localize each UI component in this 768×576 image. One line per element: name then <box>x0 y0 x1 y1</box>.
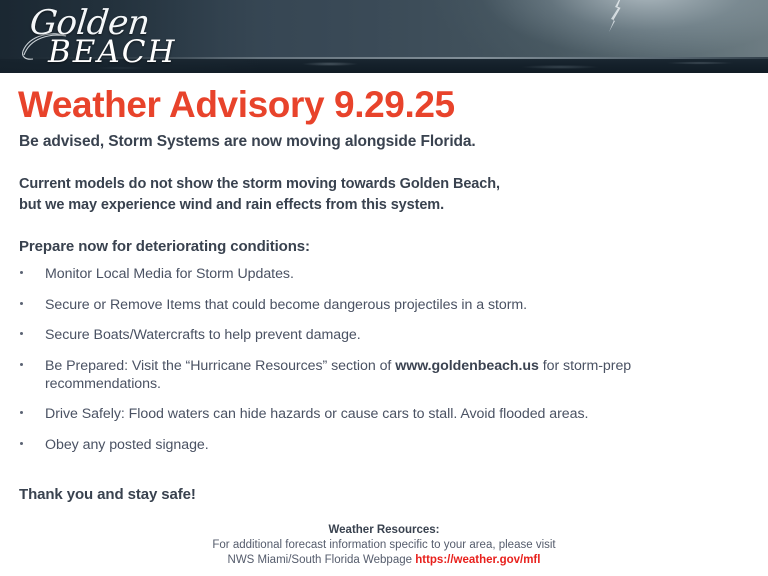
list-item-text: Secure or Remove Items that could become… <box>45 297 527 313</box>
advisory-flyer: Golden BEACH Weather Advisory 9.29.25 Be… <box>0 0 768 576</box>
closing-message: Thank you and stay safe! <box>19 486 196 503</box>
preparation-list: Monitor Local Media for Storm Updates. S… <box>19 265 739 466</box>
list-item: Drive Safely: Flood waters can hide haza… <box>19 405 739 423</box>
footer-line-1: For additional forecast information spec… <box>0 538 768 553</box>
bullet-dot-icon <box>20 332 23 335</box>
lightning-bolt-icon <box>598 0 638 34</box>
bullet-dot-icon <box>20 411 23 414</box>
footer-line-2-prefix: NWS Miami/South Florida Webpage <box>228 554 416 566</box>
nws-weather-link[interactable]: https://weather.gov/mfl <box>415 554 540 566</box>
list-item: Be Prepared: Visit the “Hurricane Resour… <box>19 357 739 393</box>
golden-beach-logo: Golden BEACH <box>14 1 244 71</box>
header-banner: Golden BEACH <box>0 0 768 73</box>
page-title: Weather Advisory 9.29.25 <box>18 84 455 126</box>
list-item-text: Secure Boats/Watercrafts to help prevent… <box>45 327 361 343</box>
advisory-paragraph: Current models do not show the storm mov… <box>19 174 500 216</box>
section-heading: Prepare now for deteriorating conditions… <box>19 238 310 255</box>
list-item-text: Obey any posted signage. <box>45 437 209 453</box>
list-item-text: Monitor Local Media for Storm Updates. <box>45 266 294 282</box>
list-item: Monitor Local Media for Storm Updates. <box>19 265 739 283</box>
footer-resources: Weather Resources: For additional foreca… <box>0 523 768 568</box>
advisory-lede: Be advised, Storm Systems are now moving… <box>19 133 476 151</box>
list-item: Obey any posted signage. <box>19 436 739 454</box>
footer-line-2: NWS Miami/South Florida Webpage https://… <box>0 553 768 568</box>
bullet-dot-icon <box>20 271 23 274</box>
footer-heading: Weather Resources: <box>0 523 768 538</box>
logo-secondary-text: BEACH <box>48 34 177 70</box>
bullet-dot-icon <box>20 442 23 445</box>
paragraph-line-2: but we may experience wind and rain effe… <box>19 197 444 213</box>
list-item: Secure Boats/Watercrafts to help prevent… <box>19 326 739 344</box>
website-link[interactable]: www.goldenbeach.us <box>395 358 539 374</box>
list-item-text: Be Prepared: Visit the “Hurricane Resour… <box>45 358 395 374</box>
paragraph-line-1: Current models do not show the storm mov… <box>19 176 500 192</box>
list-item-text: Drive Safely: Flood waters can hide haza… <box>45 406 588 422</box>
bullet-dot-icon <box>20 302 23 305</box>
advisory-content: Weather Advisory 9.29.25 Be advised, Sto… <box>0 73 768 576</box>
bullet-dot-icon <box>20 363 23 366</box>
list-item: Secure or Remove Items that could become… <box>19 296 739 314</box>
